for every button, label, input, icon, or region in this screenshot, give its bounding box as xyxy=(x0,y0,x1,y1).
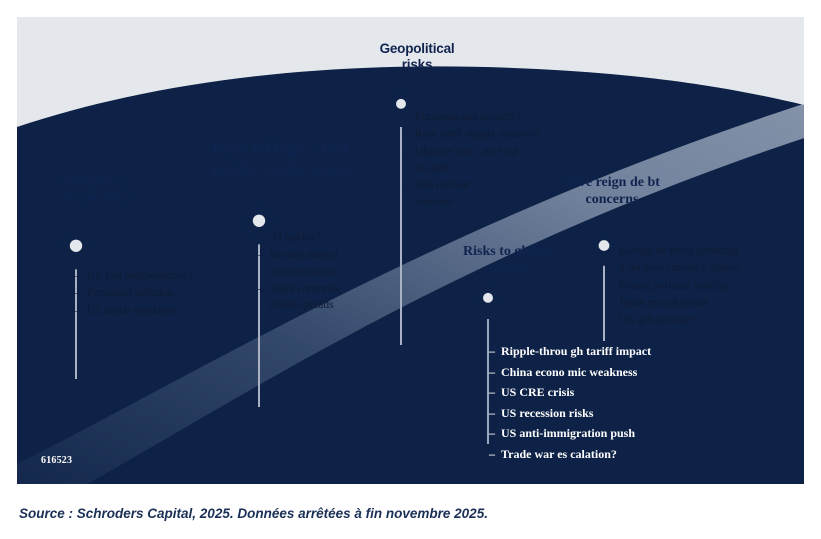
list-item: –Trade war es calation? xyxy=(489,445,739,464)
topic-items-risks-to-global-growth: –Ripple-throu gh tariff impact –China ec… xyxy=(489,342,739,466)
bullet-dash: – xyxy=(258,230,270,246)
reference-number: 616523 xyxy=(41,455,72,466)
list-item: –Tight corporate credit spreads xyxy=(258,281,388,314)
list-item: –AI bubble? xyxy=(258,230,388,246)
list-item: –US anti-immigration push xyxy=(489,424,739,443)
infographic-canvas: Fed poli cy uncertaint y –US Fed indepen… xyxy=(0,0,821,539)
list-item: –Rare earth supply security? xyxy=(403,126,603,142)
list-item: –Persistent inflation xyxy=(75,285,265,301)
list-item: –US recession risks xyxy=(489,404,739,423)
bullet-dash: – xyxy=(489,445,501,464)
topic-title-risks-to-global-growth: Risks to global growth xyxy=(417,244,597,277)
list-item: –UK gilt pressure xyxy=(607,312,804,328)
topic-title-sovereign-debt-concerns: Sove reign de bt concerns xyxy=(512,175,712,208)
stem-sovereign-debt-concerns xyxy=(603,265,605,341)
bullet-dash: – xyxy=(403,126,415,142)
list-item: –US CRE crisis xyxy=(489,383,739,402)
topic-items-sovereign-debt-concerns: –Europe de fence spending –$ res erve cu… xyxy=(607,243,804,330)
map-pin-fed-policy-uncertainty[interactable] xyxy=(61,231,91,271)
list-item: –Ukraine war – no e nd in sight xyxy=(403,144,603,177)
list-item: –Record market con centration xyxy=(258,247,388,280)
list-item: –$ res erve currency status? xyxy=(607,260,804,276)
list-item: –Japan record yields xyxy=(607,295,804,311)
stem-geopolitical-risks xyxy=(400,127,402,345)
list-item: –European gas security? xyxy=(403,109,603,125)
bullet-dash: – xyxy=(258,247,270,263)
list-item: –China econo mic weakness xyxy=(489,363,739,382)
bullet-dash: – xyxy=(75,285,87,301)
bullet-dash: – xyxy=(607,260,619,276)
source-note: Source : Schroders Capital, 2025. Donnée… xyxy=(19,506,488,521)
bullet-dash: – xyxy=(607,295,619,311)
bullet-dash: – xyxy=(489,363,501,382)
bullet-dash: – xyxy=(607,243,619,259)
bullet-dash: – xyxy=(607,312,619,328)
topic-title-record-high-stock-market-valuations: Reco rd high s tock marke t valu ations xyxy=(157,139,407,179)
bullet-dash: – xyxy=(489,383,501,402)
bullet-dash: – xyxy=(75,303,87,319)
bullet-dash: – xyxy=(489,342,501,361)
list-item: –France political stability xyxy=(607,278,804,294)
bullet-dash: – xyxy=(607,278,619,294)
bullet-dash: – xyxy=(403,109,415,125)
bullet-dash: – xyxy=(403,144,415,160)
topic-title-geopolitical-risks: Geopolitical risks xyxy=(337,41,497,73)
topic-items-record-high-stock-market-valuations: –AI bubble? –Record market con centratio… xyxy=(258,230,388,315)
list-item: –US Fed independence? xyxy=(75,268,265,284)
bullet-dash: – xyxy=(75,268,87,284)
bullet-dash: – xyxy=(258,281,270,297)
bullet-dash: – xyxy=(489,404,501,423)
topic-items-fed-policy-uncertainty: –US Fed independence? –Persistent inflat… xyxy=(75,268,265,320)
list-item: –Ripple-throu gh tariff impact xyxy=(489,342,739,361)
list-item: –Europe de fence spending xyxy=(607,243,804,259)
topic-title-fed-policy-uncertainty: Fed poli cy uncertaint y xyxy=(17,175,173,208)
list-item: –US dollar weakness xyxy=(75,303,265,319)
bullet-dash: – xyxy=(403,177,415,193)
main-panel: Fed poli cy uncertaint y –US Fed indepen… xyxy=(17,17,804,484)
map-pin-risks-to-global-growth[interactable] xyxy=(476,285,506,325)
bullet-dash: – xyxy=(489,424,501,443)
